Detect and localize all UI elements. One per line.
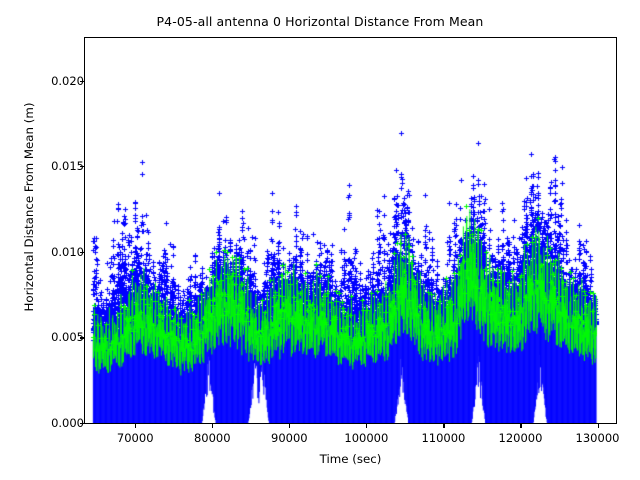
x-tick-mark	[366, 424, 367, 428]
y-axis-label: Horizontal Distance From Mean (m)	[22, 12, 36, 402]
x-tick-mark	[212, 424, 213, 428]
x-tick-mark	[443, 424, 444, 428]
y-tick-label: 0.010	[38, 245, 84, 259]
y-tick-label: 0.005	[38, 330, 84, 344]
x-axis-label: Time (sec)	[84, 452, 617, 466]
x-tick-label: 130000	[563, 431, 633, 445]
x-axis-ticks: 700008000090000100000110000120000130000	[84, 424, 617, 454]
x-tick-mark	[520, 424, 521, 428]
x-tick-mark	[289, 424, 290, 428]
x-tick-mark	[135, 424, 136, 428]
x-tick-label: 120000	[485, 431, 555, 445]
plot-area	[84, 37, 617, 424]
y-tick-label: 0.015	[38, 159, 84, 173]
chart-title: P4-05-all antenna 0 Horizontal Distance …	[0, 14, 640, 29]
x-tick-label: 110000	[408, 431, 478, 445]
x-tick-label: 100000	[331, 431, 401, 445]
x-tick-label: 90000	[254, 431, 324, 445]
x-tick-label: 70000	[100, 431, 170, 445]
y-tick-label: 0.020	[38, 74, 84, 88]
y-axis-ticks: 0.0000.0050.0100.0150.020	[31, 37, 84, 424]
x-tick-label: 80000	[177, 431, 247, 445]
figure-canvas: P4-05-all antenna 0 Horizontal Distance …	[0, 0, 640, 480]
y-tick-label: 0.000	[38, 416, 84, 430]
x-tick-mark	[598, 424, 599, 428]
scatter-plot-canvas	[85, 38, 616, 423]
